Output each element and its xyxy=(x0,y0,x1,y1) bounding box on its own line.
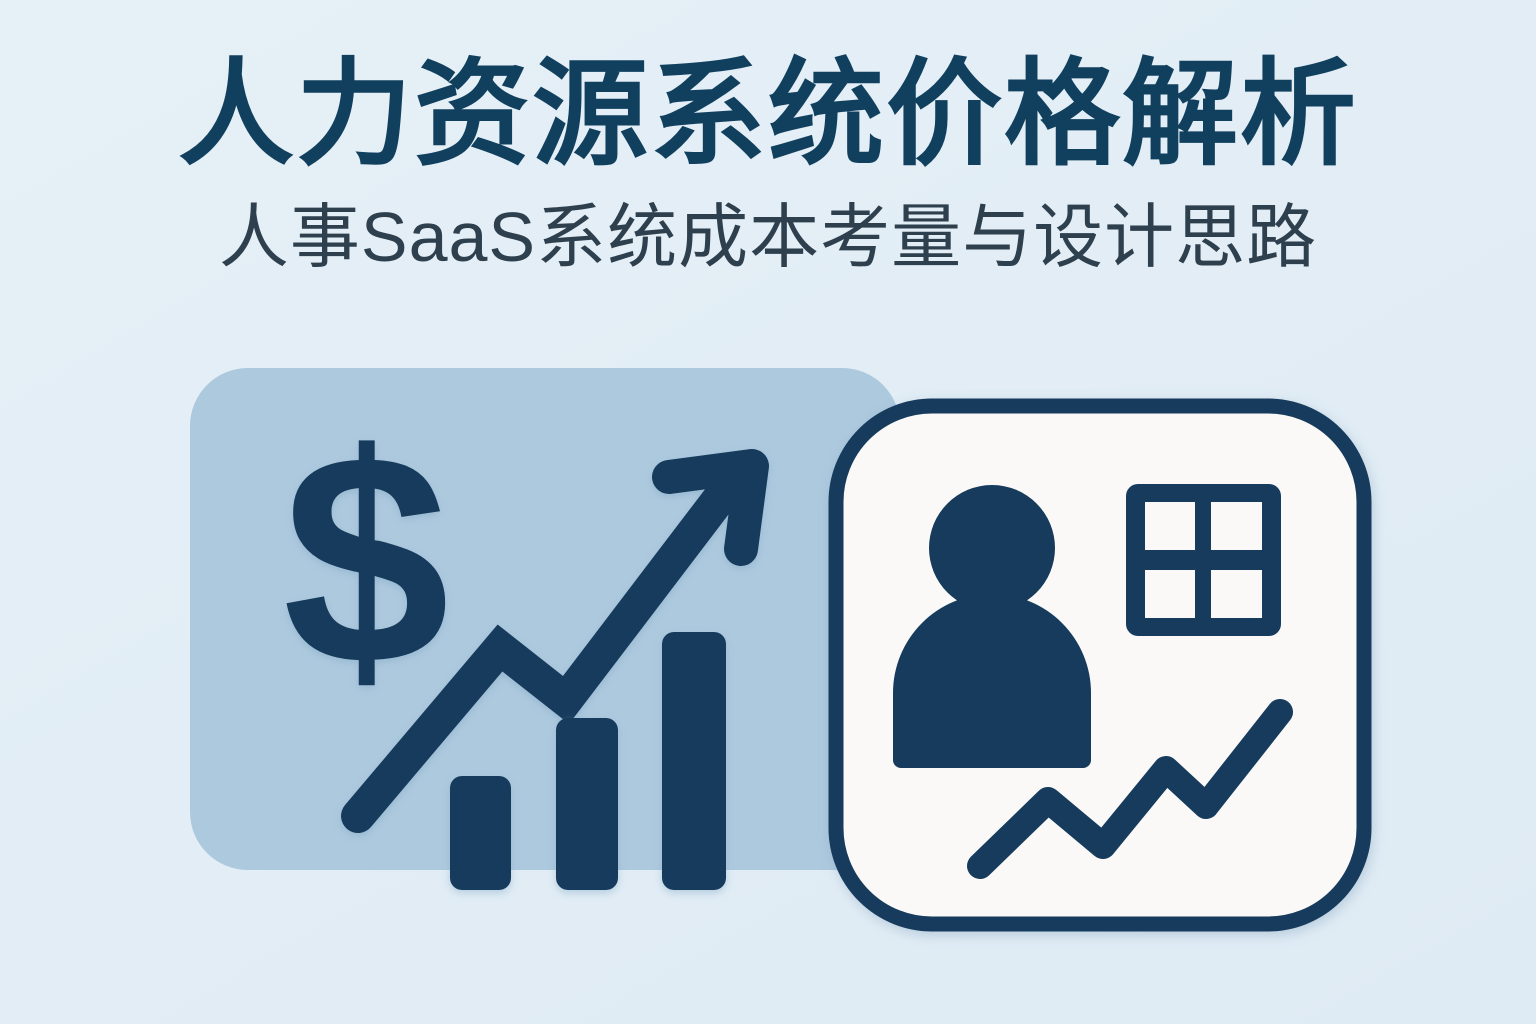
dollar-sign-icon: $ xyxy=(283,391,450,727)
bar-1 xyxy=(450,776,511,890)
poster-canvas: 人力资源系统价格解析 人事SaaS系统成本考量与设计思路 $ xyxy=(0,0,1536,1024)
svg-text:$: $ xyxy=(283,391,450,727)
grid-2x2-icon xyxy=(1126,484,1281,636)
illustration-stage: $ xyxy=(0,0,1536,1024)
bar-2 xyxy=(556,718,618,890)
bar-3 xyxy=(662,632,726,890)
hr-profile-card xyxy=(836,406,1364,924)
